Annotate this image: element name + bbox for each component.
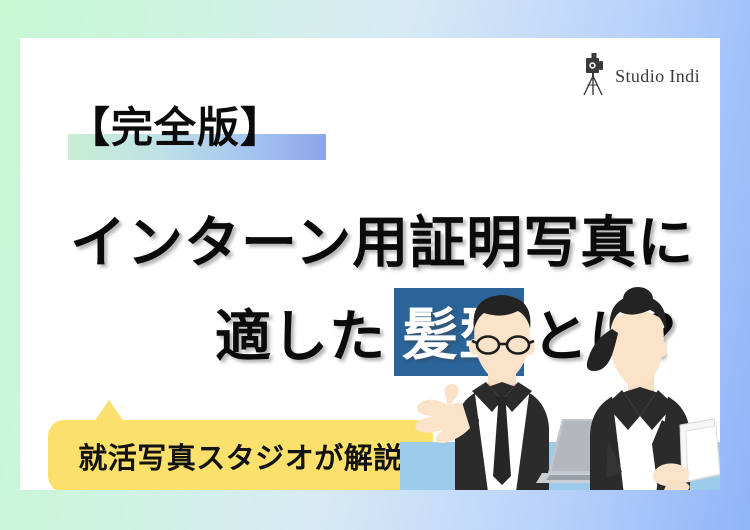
thumbnail-canvas: Studio Indi 【完全版】 インターン用証明写真に 適した 髪型 とは？…	[0, 0, 750, 530]
speech-bubble-tail	[94, 400, 124, 422]
studio-indi-logo: Studio Indi	[580, 52, 700, 101]
tripod-camera-icon	[580, 52, 608, 101]
speech-bubble-text: 就活写真スタジオが解説	[78, 435, 403, 477]
brand-name: Studio Indi	[615, 66, 700, 87]
businesswoman-figure	[587, 287, 720, 490]
open-hand	[415, 384, 470, 443]
business-people-illustration	[400, 285, 720, 490]
white-content-card: Studio Indi 【完全版】 インターン用証明写真に 適した 髪型 とは？…	[20, 38, 720, 490]
headline-line-1: インターン用証明写真に	[70, 198, 694, 279]
headline-line2-prefix: 適した	[215, 292, 386, 373]
badge-text: 【完全版】	[68, 98, 283, 158]
speech-bubble: 就活写真スタジオが解説	[48, 420, 433, 490]
badge-label: 【完全版】	[68, 98, 283, 160]
